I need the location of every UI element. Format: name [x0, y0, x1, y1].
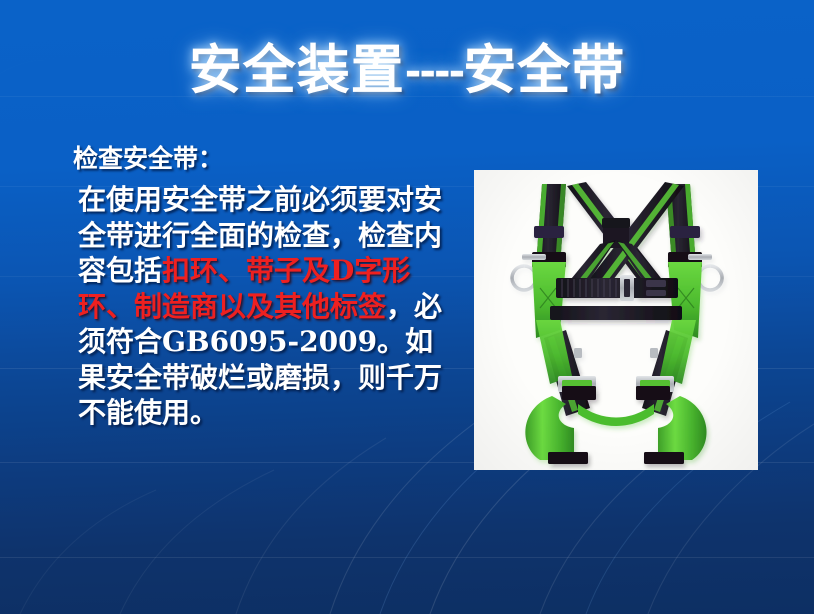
slide-canvas: 安全装置----安全带 检查安全带： 在使用安全带之前必须要对安全带进行全面的检… — [0, 0, 814, 614]
harness-photo — [474, 170, 758, 470]
slide-title: 安全装置----安全带 — [189, 38, 625, 104]
content-text-block: 检查安全带： 在使用安全带之前必须要对安全带进行全面的检查，检查内容包括扣环、带… — [66, 140, 446, 431]
background-band-line — [0, 96, 814, 97]
background-band-line — [0, 557, 814, 558]
harness-illustration — [474, 170, 758, 470]
slide-title-suffix: 安全带 — [463, 39, 625, 101]
content-paragraph: 在使用安全带之前必须要对安全带进行全面的检查，检查内容包括扣环、带子及D字形环、… — [66, 182, 446, 431]
slide-title-prefix: 安全装置 — [189, 39, 405, 101]
content-lead-heading: 检查安全带： — [66, 140, 446, 178]
slide-title-separator: ---- — [405, 49, 463, 95]
slide-title-container: 安全装置----安全带 — [0, 38, 814, 104]
